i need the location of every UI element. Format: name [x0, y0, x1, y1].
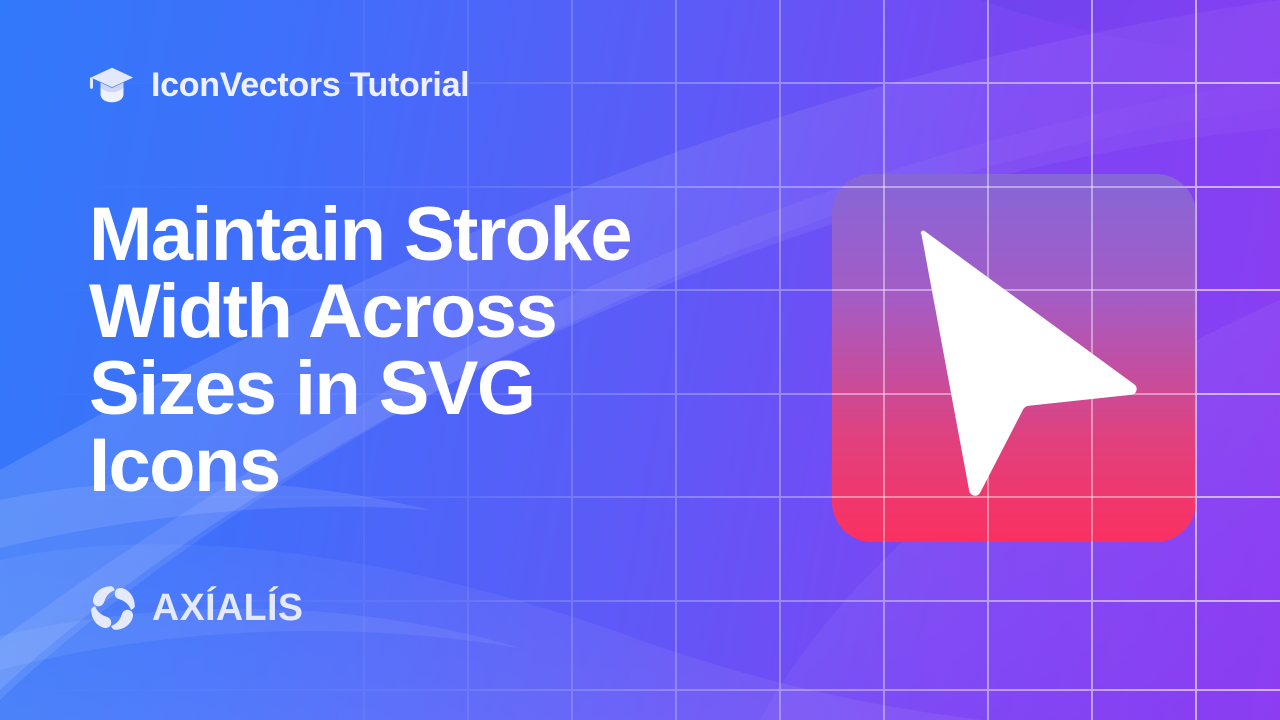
icon-preview-card: [832, 174, 1196, 542]
graduation-cap-icon: [89, 62, 135, 108]
slide-canvas: IconVectors Tutorial Maintain Stroke Wid…: [0, 0, 1280, 720]
page-title: Maintain Stroke Width Across Sizes in SV…: [89, 196, 729, 504]
svg-text:AXÍALÍS: AXÍALÍS: [152, 586, 303, 628]
title-line-1: Maintain Stroke: [89, 196, 729, 273]
axialis-wordmark: AXÍALÍS: [152, 586, 381, 630]
tutorial-header: IconVectors Tutorial: [89, 62, 469, 108]
title-line-4: Icons: [89, 427, 729, 504]
title-line-2: Width Across: [89, 273, 729, 350]
axialis-pinwheel-logo-icon: [88, 583, 138, 633]
header-title: IconVectors Tutorial: [151, 68, 469, 102]
mouse-cursor-arrow-icon: [832, 174, 1196, 542]
axialis-brand-logo: AXÍALÍS: [88, 583, 381, 633]
title-line-3: Sizes in SVG: [89, 350, 729, 427]
